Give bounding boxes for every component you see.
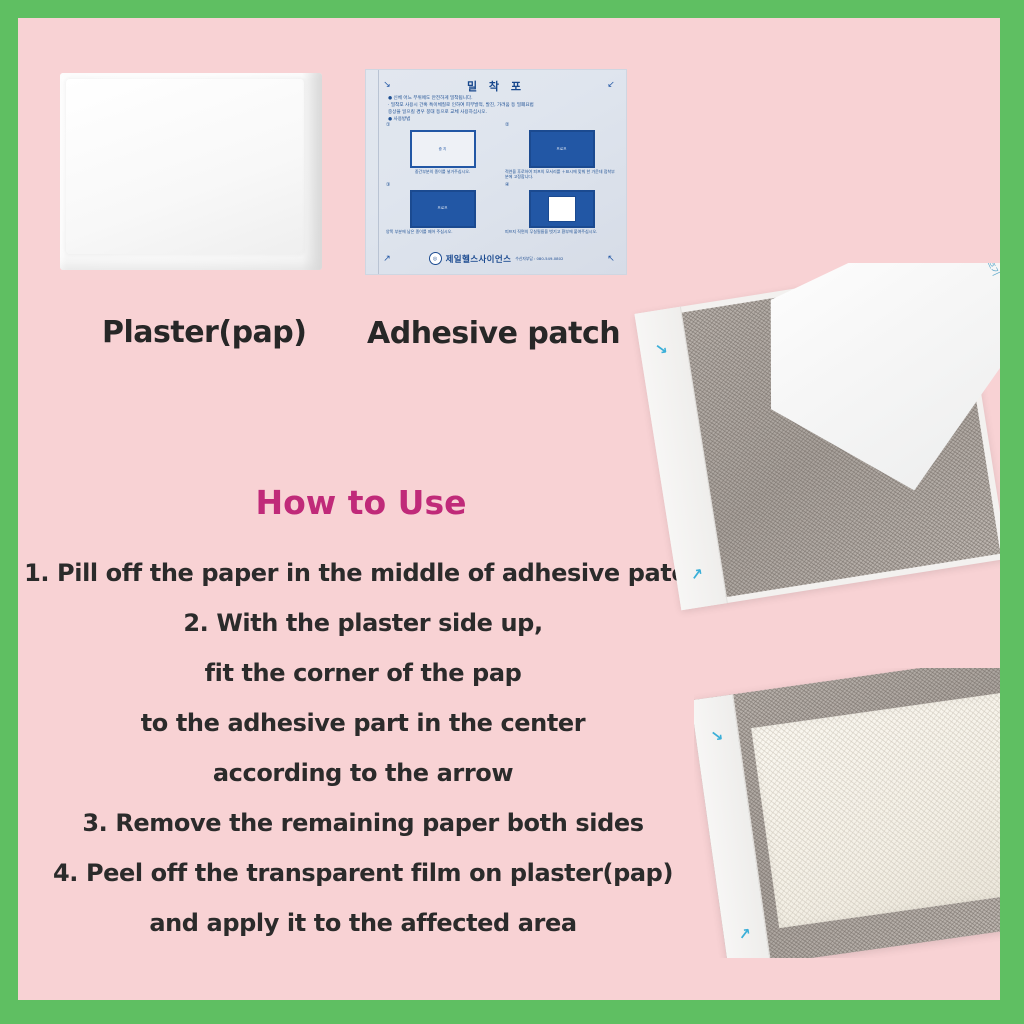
release-paper-text-1: 일폐흐기 bbox=[977, 263, 1000, 278]
plaster-label: Plaster(pap) bbox=[102, 315, 306, 350]
patch-edge-arrow-bottom-icon: ↗ bbox=[689, 566, 705, 582]
package-step-2: ② 프로프 적연을 후로하여 피프의 모서리를 ＋표시에 맞춰 한 가운데 접착… bbox=[505, 122, 618, 180]
patch-fabric-texture-bottom: ↘ ↗ bbox=[694, 668, 1000, 958]
brand-logo-icon: ◎ bbox=[429, 252, 442, 265]
package-fold-line bbox=[378, 70, 379, 274]
adhesive-patch-label: Adhesive patch bbox=[367, 316, 620, 351]
package-step-3-box-label: 프로프 bbox=[438, 206, 448, 211]
adhesive-patch-package-photo: ↘ ↙ ↗ ↖ 밀 착 포 ● 신체 어느 부위에도 안전하게 밀착됩니다. ·… bbox=[365, 69, 627, 275]
how-to-use-step-3: 3. Remove the remaining paper both sides bbox=[18, 798, 708, 848]
package-step-1-number: ① bbox=[386, 122, 499, 128]
package-step-3-number: ③ bbox=[386, 182, 499, 188]
plaster-product-photo bbox=[60, 73, 322, 270]
poster-canvas: ↘ ↙ ↗ ↖ 밀 착 포 ● 신체 어느 부위에도 안전하게 밀착됩니다. ·… bbox=[18, 18, 1000, 1000]
usage-photo-peeling: ↘ ↗ ↙ 일폐흐기 리플 절단 bbox=[630, 263, 1000, 635]
package-step-diagrams: ① 중 지 중간부분의 종이를 넣거주십시오. ② 프로프 적연을 후로하여 피… bbox=[386, 122, 618, 234]
package-step-3-caption: 양쪽 부분에 남은 종이를 떼어 주십시오. bbox=[386, 229, 499, 234]
package-title: 밀 착 포 bbox=[366, 78, 626, 94]
package-step-1-diagram: 중 지 bbox=[410, 130, 476, 168]
package-step-1-caption: 중간부분의 종이를 넣거주십시오. bbox=[386, 169, 499, 174]
package-step-4: ④ 피프지 직면의 무실필름을 벗기고 환부에 붙여주십시오. bbox=[505, 182, 618, 234]
how-to-use-step-4: 4. Peel off the transparent film on plas… bbox=[18, 848, 708, 898]
package-step-3: ③ 프로프 양쪽 부분에 남은 종이를 떼어 주십시오. bbox=[386, 182, 499, 234]
package-bullet-2: 중상을 일으킬 경우 붕대 등으로 교체 사용하십시오. bbox=[388, 109, 616, 116]
how-to-use-step-1: 1. Pill off the paper in the middle of a… bbox=[18, 548, 708, 598]
patch-edge-arrow-top-icon-bottom: ↘ bbox=[709, 728, 725, 744]
package-step-4-inner-shape bbox=[548, 196, 576, 222]
patch-edge-arrow-bottom-icon-bottom: ↗ bbox=[737, 926, 753, 942]
how-to-use-steps-list: 1. Pill off the paper in the middle of a… bbox=[18, 548, 708, 948]
package-step-3-diagram: 프로프 bbox=[410, 190, 476, 228]
package-step-2-diagram: 프로프 bbox=[529, 130, 595, 168]
package-step-4-number: ④ bbox=[505, 182, 618, 188]
how-to-use-step-4-cont: and apply it to the affected area bbox=[18, 898, 708, 948]
usage-photo-applied: ↘ ↗ bbox=[694, 668, 1000, 958]
package-step-2-number: ② bbox=[505, 122, 618, 128]
flat-assembly: ↘ ↗ bbox=[694, 668, 1000, 958]
package-bullets: ● 신체 어느 부위에도 안전하게 밀착됩니다. · 밀착포 사용시 간혹 특이… bbox=[388, 95, 616, 123]
package-step-1: ① 중 지 중간부분의 종이를 넣거주십시오. bbox=[386, 122, 499, 180]
how-to-use-step-2-cont-1: fit the corner of the pap bbox=[18, 648, 708, 698]
plaster-on-patch bbox=[751, 690, 1000, 928]
package-step-2-box-label: 프로프 bbox=[557, 147, 567, 152]
package-footer: ◎ 제일헬스사이언스 수신자부담 : 080-549-0802 bbox=[366, 252, 626, 265]
package-phone-number: 수신자부담 : 080-549-0802 bbox=[515, 256, 563, 262]
package-step-4-diagram bbox=[529, 190, 595, 228]
package-step-1-box-label: 중 지 bbox=[439, 147, 447, 152]
package-step-4-caption: 피프지 직면의 무실필름을 벗기고 환부에 붙여주십시오. bbox=[505, 229, 618, 234]
package-bullet-0: ● 신체 어느 부위에도 안전하게 밀착됩니다. bbox=[388, 95, 616, 102]
how-to-use-heading: How to Use bbox=[18, 483, 704, 522]
patch-edge-arrow-top-icon: ↘ bbox=[653, 341, 669, 357]
package-step-2-caption: 적연을 후로하여 피프의 모서리를 ＋표시에 맞춰 한 가운데 접착부분에 고정… bbox=[505, 169, 618, 180]
package-bullet-1: · 밀착포 사용시 간혹 특이체질로 인하여 피부발적, 발진, 가려움 등 밀… bbox=[388, 102, 616, 109]
peel-assembly: ↘ ↗ ↙ 일폐흐기 리플 절단 bbox=[634, 263, 1000, 635]
how-to-use-step-2-cont-3: according to the arrow bbox=[18, 748, 708, 798]
how-to-use-step-2: 2. With the plaster side up, bbox=[18, 598, 708, 648]
poster-root: ↘ ↙ ↗ ↖ 밀 착 포 ● 신체 어느 부위에도 안전하게 밀착됩니다. ·… bbox=[0, 0, 1024, 1024]
how-to-use-step-2-cont-2: to the adhesive part in the center bbox=[18, 698, 708, 748]
package-brand-name: 제일헬스사이언스 bbox=[446, 253, 512, 265]
